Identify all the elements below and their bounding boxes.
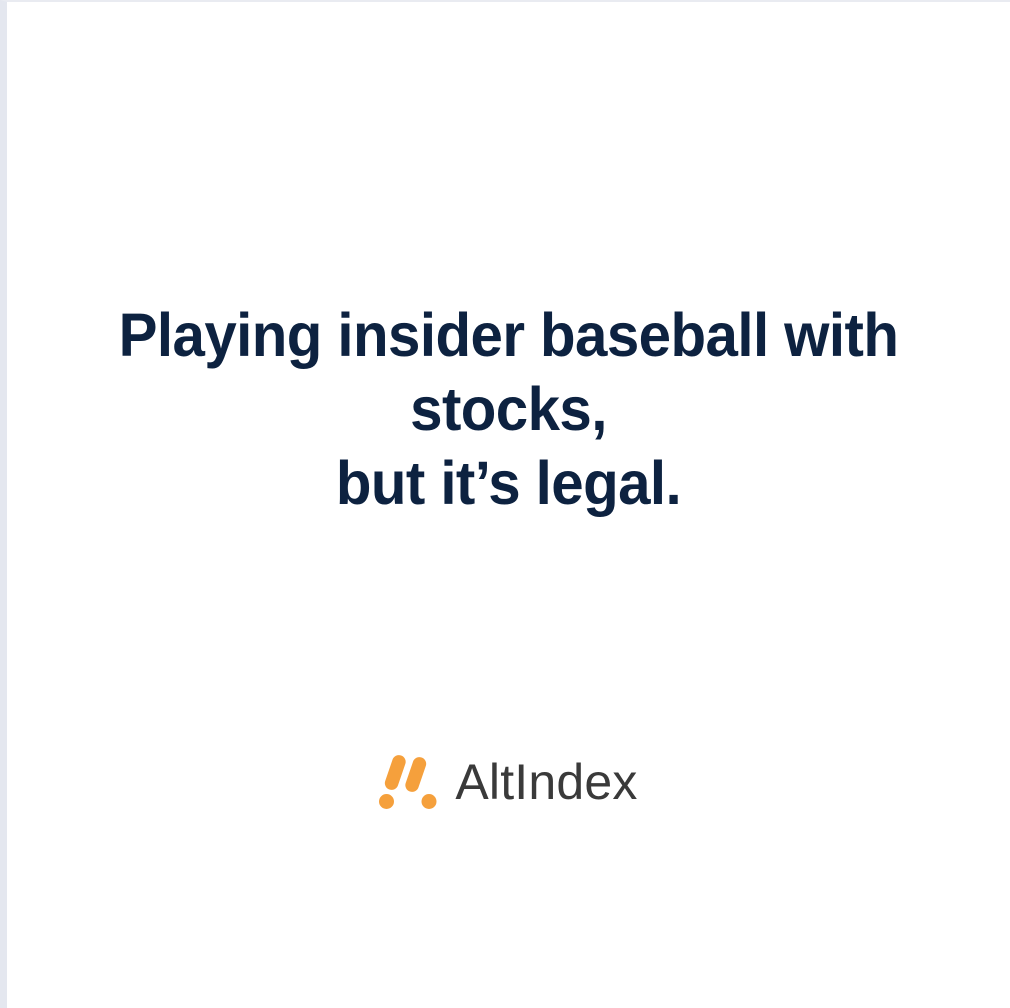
promo-card: Playing insider baseball with stocks, bu… <box>0 0 1010 1008</box>
headline-block: Playing insider baseball with stocks, bu… <box>7 298 1010 520</box>
page-title: Playing insider baseball with stocks, bu… <box>58 298 959 520</box>
altindex-logo: AltIndex <box>7 754 1010 810</box>
altindex-wordmark: AltIndex <box>455 754 637 810</box>
altindex-logo-mark-icon <box>379 754 437 810</box>
